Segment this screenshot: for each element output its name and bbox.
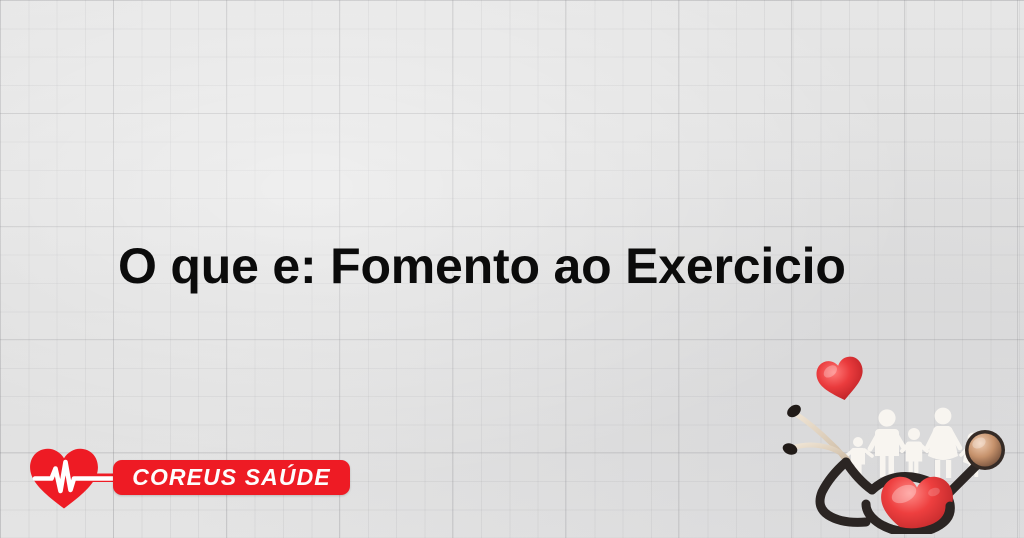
page-title: O que e: Fomento ao Exercicio [118,236,846,296]
medical-illustration [780,352,1012,534]
family-silhouette-icon [846,408,985,478]
brand-badge: COREUS SAÚDE [113,460,350,495]
slide-canvas: O que e: Fomento ao Exercicio COREUS SAÚ… [0,0,1024,538]
brand-name-label: COREUS SAÚDE [113,460,350,495]
stethoscope-chestpiece-icon [965,430,1005,470]
brand-logo[interactable]: COREUS SAÚDE [28,446,353,510]
small-heart-icon [814,354,868,404]
